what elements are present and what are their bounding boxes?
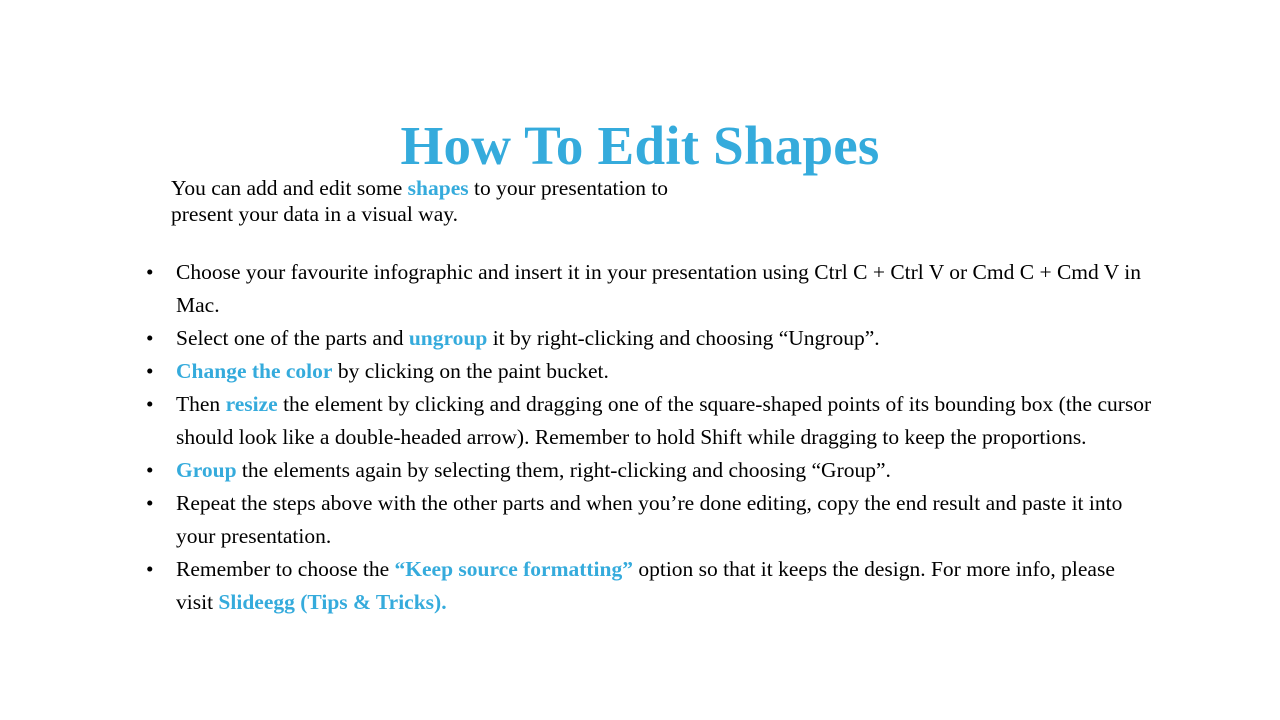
list-item: • Group the elements again by selecting … — [140, 454, 1152, 487]
intro-text-before-accent: You can add and edit some — [171, 176, 408, 200]
list-item: • Choose your favourite infographic and … — [140, 256, 1152, 322]
list-item: • Select one of the parts and ungroup it… — [140, 322, 1152, 355]
bullet-point-icon: • — [146, 487, 160, 520]
instruction-list: • Choose your favourite infographic and … — [140, 256, 1152, 619]
list-item: • Remember to choose the “Keep source fo… — [140, 553, 1152, 619]
list-item-text: Select one of the parts and ungroup it b… — [176, 322, 1152, 355]
bullet-point-icon: • — [146, 256, 160, 289]
list-item-text: Repeat the steps above with the other pa… — [176, 487, 1152, 553]
list-item-accent-keep-source-formatting: “Keep source formatting” — [395, 557, 633, 581]
list-item-segment: the element by clicking and dragging one… — [176, 392, 1151, 449]
list-item-segment: Repeat the steps above with the other pa… — [176, 491, 1122, 548]
page-title: How To Edit Shapes — [0, 116, 1280, 177]
list-item-segment: Then — [176, 392, 226, 416]
intro-paragraph: You can add and edit some shapes to your… — [171, 175, 871, 227]
intro-line-1: You can add and edit some shapes to your… — [171, 175, 871, 201]
list-item-text: Then resize the element by clicking and … — [176, 388, 1152, 454]
bullet-point-icon: • — [146, 388, 160, 421]
list-item-text: Group the elements again by selecting th… — [176, 454, 1152, 487]
list-item: • Change the color by clicking on the pa… — [140, 355, 1152, 388]
list-item-text: Remember to choose the “Keep source form… — [176, 553, 1152, 619]
list-item-segment: Remember to choose the — [176, 557, 395, 581]
list-item-accent-resize: resize — [226, 392, 278, 416]
list-item-segment: the elements again by selecting them, ri… — [237, 458, 891, 482]
list-item-text: Change the color by clicking on the pain… — [176, 355, 1152, 388]
bullet-point-icon: • — [146, 355, 160, 388]
list-item-segment: Select one of the parts and — [176, 326, 409, 350]
list-item-accent-change-color: Change the color — [176, 359, 332, 383]
list-item-text: Choose your favourite infographic and in… — [176, 256, 1152, 322]
bullet-point-icon: • — [146, 553, 160, 586]
list-item: • Repeat the steps above with the other … — [140, 487, 1152, 553]
slide-canvas: How To Edit Shapes You can add and edit … — [0, 0, 1280, 720]
list-item: • Then resize the element by clicking an… — [140, 388, 1152, 454]
list-item-accent-ungroup: ungroup — [409, 326, 487, 350]
list-item-accent-slideegg-link[interactable]: Slideegg (Tips & Tricks). — [218, 590, 446, 614]
list-item-segment: by clicking on the paint bucket. — [332, 359, 608, 383]
bullet-point-icon: • — [146, 454, 160, 487]
list-item-accent-group: Group — [176, 458, 237, 482]
intro-accent-shapes: shapes — [408, 176, 469, 200]
list-item-segment: Choose your favourite infographic and in… — [176, 260, 1141, 317]
intro-text-after-accent: to your presentation to — [469, 176, 668, 200]
list-item-segment: it by right-clicking and choosing “Ungro… — [487, 326, 879, 350]
intro-line-2: present your data in a visual way. — [171, 201, 871, 227]
bullet-point-icon: • — [146, 322, 160, 355]
